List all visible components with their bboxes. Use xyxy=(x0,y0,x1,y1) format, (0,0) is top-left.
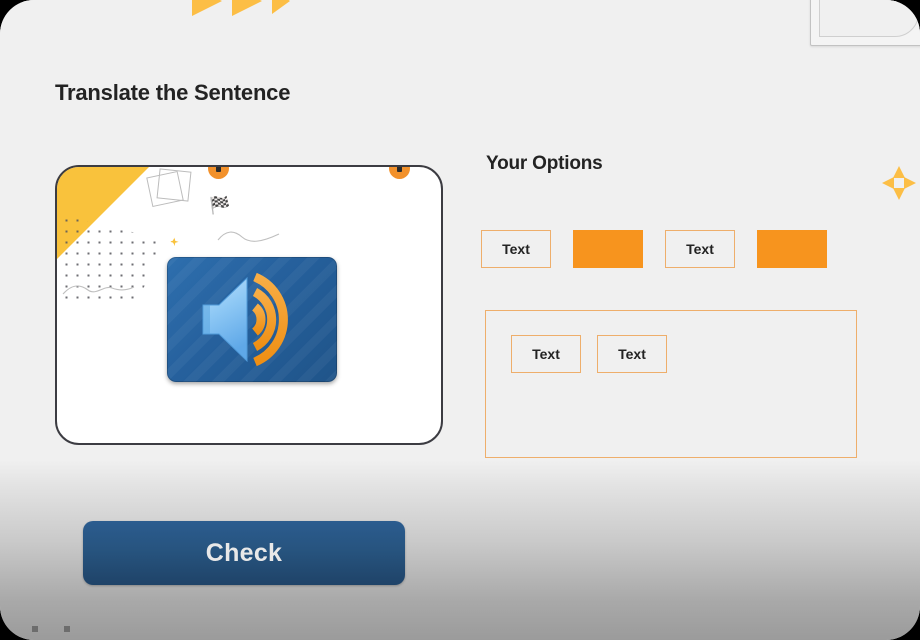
options-section-title: Your Options xyxy=(486,153,603,175)
speaker-volume-icon[interactable] xyxy=(167,257,337,382)
answer-chip[interactable]: Text xyxy=(511,335,581,373)
answer-chip-row: Text Text xyxy=(511,335,856,373)
page-title: Translate the Sentence xyxy=(55,80,290,106)
footer-dot xyxy=(64,626,70,632)
option-chip[interactable] xyxy=(757,230,827,268)
answer-drop-zone[interactable]: Text Text xyxy=(485,310,857,458)
double-arrow-icon xyxy=(186,0,296,18)
options-chip-row: Text Text xyxy=(481,230,827,268)
option-chip[interactable] xyxy=(573,230,643,268)
option-chip[interactable]: Text xyxy=(665,230,735,268)
checkered-flag-icon: 🏁 xyxy=(209,197,230,214)
card-pin xyxy=(389,165,410,179)
compass-sparkle-icon xyxy=(879,163,919,203)
corner-frame-inner xyxy=(819,0,919,37)
wave-line-decoration xyxy=(62,281,136,299)
card-pin xyxy=(208,165,229,179)
option-chip[interactable]: Text xyxy=(481,230,551,268)
sparkle-icon xyxy=(167,235,183,251)
answer-chip[interactable]: Text xyxy=(597,335,667,373)
audio-prompt-card: 🏁 xyxy=(55,165,443,445)
check-button[interactable]: Check xyxy=(83,521,405,585)
square-outline-decoration xyxy=(157,168,192,201)
app-screen: Translate the Sentence 🏁 xyxy=(0,0,920,640)
footer-dot xyxy=(32,626,38,632)
wave-line-decoration xyxy=(217,229,281,245)
corner-frame-decoration xyxy=(810,0,920,46)
